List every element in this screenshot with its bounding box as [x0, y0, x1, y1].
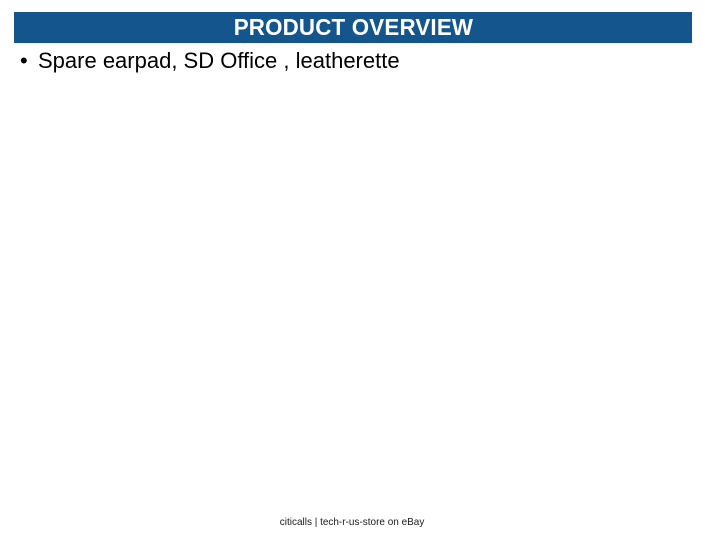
- list-item-label: Spare earpad, SD Office , leatherette: [38, 47, 692, 75]
- page-title: PRODUCT OVERVIEW: [233, 16, 472, 39]
- bullet-point-icon: •: [14, 47, 38, 75]
- slide-body: • Spare earpad, SD Office , leatherette: [14, 47, 692, 79]
- slide-canvas: PRODUCT OVERVIEW • Spare earpad, SD Offi…: [0, 0, 705, 542]
- slide-footer: citicalls | tech-r-us-store on eBay: [0, 512, 705, 530]
- list-item: • Spare earpad, SD Office , leatherette: [14, 47, 692, 75]
- footer-label: citicalls | tech-r-us-store on eBay: [280, 515, 425, 529]
- slide-title-bar: PRODUCT OVERVIEW: [14, 12, 692, 43]
